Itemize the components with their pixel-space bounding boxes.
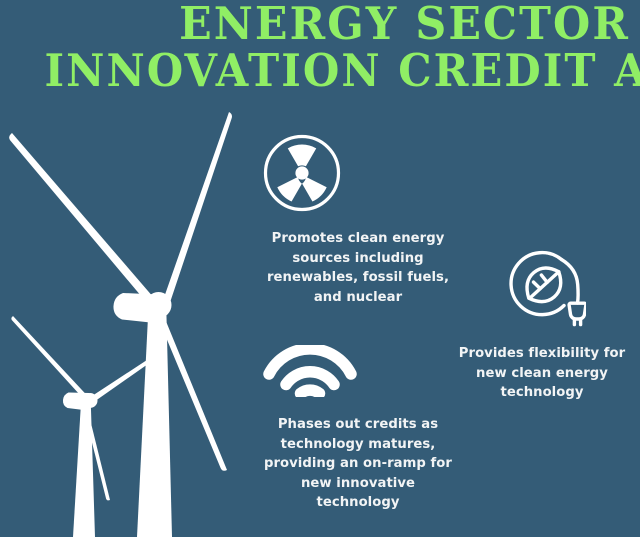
infographic-poster: ENERGY SECTOR INNOVATION CREDIT ACT Prom… [0,0,640,537]
feature-item-clean-energy-sources: Promotes clean energy sources including … [262,133,454,307]
large-turbine [9,112,232,537]
title-line-2: INNOVATION CREDIT ACT [45,49,636,93]
wifi-signal-icon [262,345,454,402]
small-turbine [11,316,149,537]
poster-title: ENERGY SECTOR INNOVATION CREDIT ACT [0,2,640,93]
feature-text-clean-energy-sources: Promotes clean energy sources including … [262,229,454,307]
feature-item-flexibility: Provides flexibility for new clean energ… [444,248,640,403]
nuclear-radiation-icon [262,133,454,218]
feature-item-phase-out: Phases out credits as technology matures… [262,345,454,513]
title-line-1: ENERGY SECTOR [32,2,631,46]
leaf-plug-eco-energy-icon [502,248,640,333]
feature-text-phase-out: Phases out credits as technology matures… [262,415,454,513]
feature-text-flexibility: Provides flexibility for new clean energ… [444,344,640,403]
